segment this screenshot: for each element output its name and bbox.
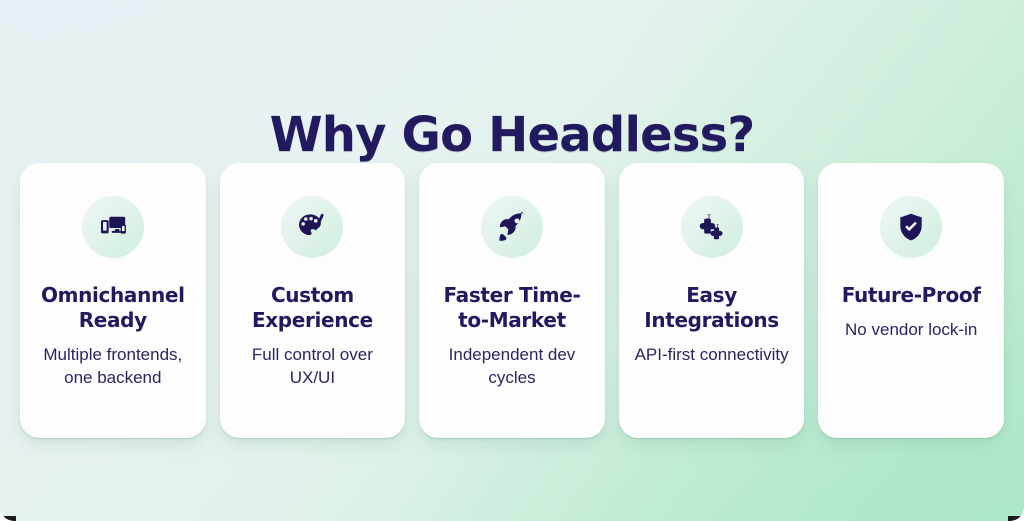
benefit-card-custom-experience[interactable]: Custom Experience Full control over UX/U…: [220, 163, 406, 438]
benefit-card-easy-integrations[interactable]: Easy Integrations API-first connectivity: [619, 163, 805, 438]
shield-check-icon: [896, 212, 926, 242]
icon-badge: [681, 196, 743, 258]
card-description: No vendor lock-in: [841, 318, 981, 341]
card-title: Custom Experience: [230, 283, 396, 333]
card-description: Multiple frontends, one backend: [30, 343, 196, 389]
page-title: Why Go Headless?: [0, 106, 1024, 164]
puzzle-pieces-icon: [697, 212, 727, 242]
icon-badge: [82, 196, 144, 258]
devices-icon: [98, 212, 128, 242]
card-description: Full control over UX/UI: [230, 343, 396, 389]
icon-badge: [880, 196, 942, 258]
slide-canvas: Why Go Headless? Omnichannel Ready: [0, 0, 1024, 521]
icon-badge: [481, 196, 543, 258]
card-description: Independent dev cycles: [429, 343, 595, 389]
canvas-corner-right: [1008, 516, 1024, 521]
benefit-card-future-proof[interactable]: Future-Proof No vendor lock-in: [818, 163, 1004, 438]
palette-brush-icon: [297, 212, 327, 242]
canvas-corner-left: [0, 516, 16, 521]
card-title: Easy Integrations: [629, 283, 795, 333]
card-description: API-first connectivity: [631, 343, 793, 366]
card-title: Faster Time-to-Market: [429, 283, 595, 333]
card-title: Omnichannel Ready: [30, 283, 196, 333]
icon-badge: [281, 196, 343, 258]
benefit-card-faster-time-to-market[interactable]: Faster Time-to-Market Independent dev cy…: [419, 163, 605, 438]
benefit-card-omnichannel-ready[interactable]: Omnichannel Ready Multiple frontends, on…: [20, 163, 206, 438]
rocket-icon: [497, 212, 527, 242]
card-title: Future-Proof: [840, 283, 983, 308]
benefit-card-row: Omnichannel Ready Multiple frontends, on…: [20, 163, 1004, 438]
